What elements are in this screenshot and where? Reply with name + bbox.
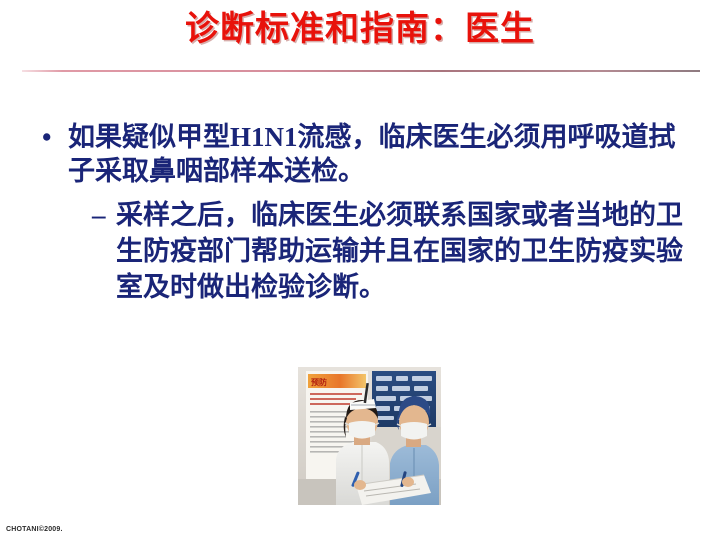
bullet-marker-dot-icon: • <box>42 120 51 154</box>
photo-medical-staff: 预防 <box>298 367 441 505</box>
title-area: 诊断标准和指南：医生 <box>0 12 720 48</box>
slide-canvas: 诊断标准和指南：医生 • 如果疑似甲型H1N1流感，临床医生必须用呼吸道拭子采取… <box>0 0 720 540</box>
bullet-text-level1: 如果疑似甲型H1N1流感，临床医生必须用呼吸道拭子采取鼻咽部样本送检。 <box>68 122 676 186</box>
bullet-text-level2: 采样之后，临床医生必须联系国家或者当地的卫生防疫部门帮助运输并且在国家的卫生防疫… <box>116 200 683 302</box>
svg-text:预防: 预防 <box>311 377 327 387</box>
photo-medical-staff-illustration: 预防 <box>298 367 441 505</box>
bullet-item-level1: • 如果疑似甲型H1N1流感，临床医生必须用呼吸道拭子采取鼻咽部样本送检。 <box>0 120 720 189</box>
title-divider <box>22 70 700 72</box>
bullet-item-level2: – 采样之后，临床医生必须联系国家或者当地的卫生防疫部门帮助运输并且在国家的卫生… <box>0 197 720 306</box>
body-content: • 如果疑似甲型H1N1流感，临床医生必须用呼吸道拭子采取鼻咽部样本送检。 – … <box>0 120 720 305</box>
footer-copyright: CHOTANI©2009. <box>6 526 63 533</box>
page-title: 诊断标准和指南：医生 <box>185 12 535 48</box>
bullet-marker-dash-icon: – <box>92 197 106 233</box>
